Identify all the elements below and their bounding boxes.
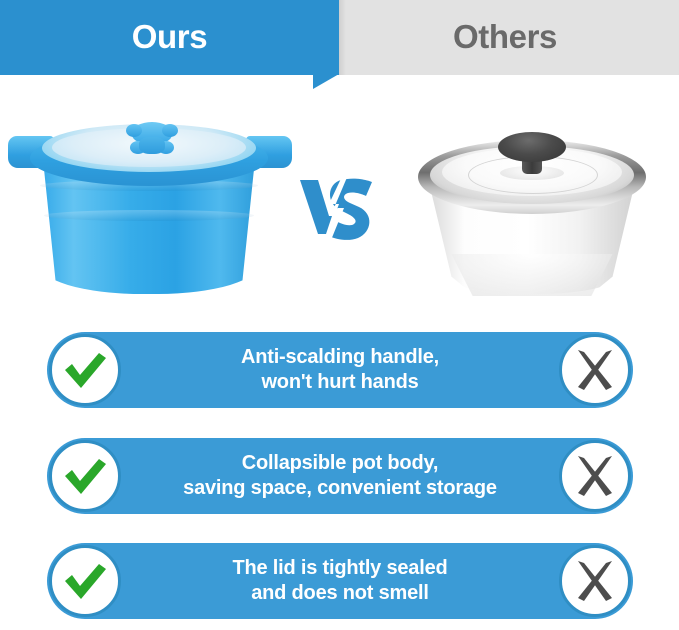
feature-text: The lid is tightly sealed and does not s…: [129, 543, 551, 619]
feature-text: Anti-scalding handle, won't hurt hands: [129, 332, 551, 408]
feature-line-2: saving space, convenient storage: [183, 476, 497, 501]
cross-icon: [562, 443, 628, 509]
vs-lightning-icon: [296, 170, 382, 248]
check-icon: [52, 548, 118, 614]
header-ours-label: Ours: [0, 0, 339, 75]
cross-icon: [562, 337, 628, 403]
feature-line-1: Anti-scalding handle,: [241, 345, 439, 370]
pot-lid-knob: [126, 122, 178, 156]
feature-line-2: won't hurt hands: [261, 370, 418, 395]
check-icon: [52, 337, 118, 403]
cross-icon: [562, 548, 628, 614]
pot-collapse-ring: [44, 210, 254, 221]
cross-badge: [559, 545, 631, 617]
feature-row: Anti-scalding handle, won't hurt hands: [47, 332, 633, 408]
header-ours-notch: [313, 74, 339, 89]
cross-badge: [559, 334, 631, 406]
product-comparison-row: [0, 92, 679, 322]
feature-line-1: Collapsible pot body,: [242, 451, 439, 476]
feature-text: Collapsible pot body, saving space, conv…: [129, 438, 551, 514]
versus-badge: [296, 170, 382, 248]
check-icon: [52, 443, 118, 509]
others-product-image: [402, 104, 662, 304]
knob-lobe: [130, 141, 146, 154]
feature-line-2: and does not smell: [251, 581, 429, 606]
check-badge: [49, 440, 121, 512]
knob-lobe: [162, 124, 178, 137]
feature-row: The lid is tightly sealed and does not s…: [47, 543, 633, 619]
check-badge: [49, 545, 121, 617]
knob-cap: [498, 132, 566, 162]
competitor-lid-knob: [494, 132, 570, 176]
ours-product-image: [8, 106, 292, 301]
cross-badge: [559, 440, 631, 512]
feature-line-1: The lid is tightly sealed: [232, 556, 447, 581]
knob-lobe: [158, 141, 174, 154]
check-badge: [49, 334, 121, 406]
header-others-label: Others: [339, 0, 671, 75]
comparison-header: Ours Others: [0, 0, 679, 92]
knob-lobe: [126, 124, 142, 137]
feature-row: Collapsible pot body, saving space, conv…: [47, 438, 633, 514]
